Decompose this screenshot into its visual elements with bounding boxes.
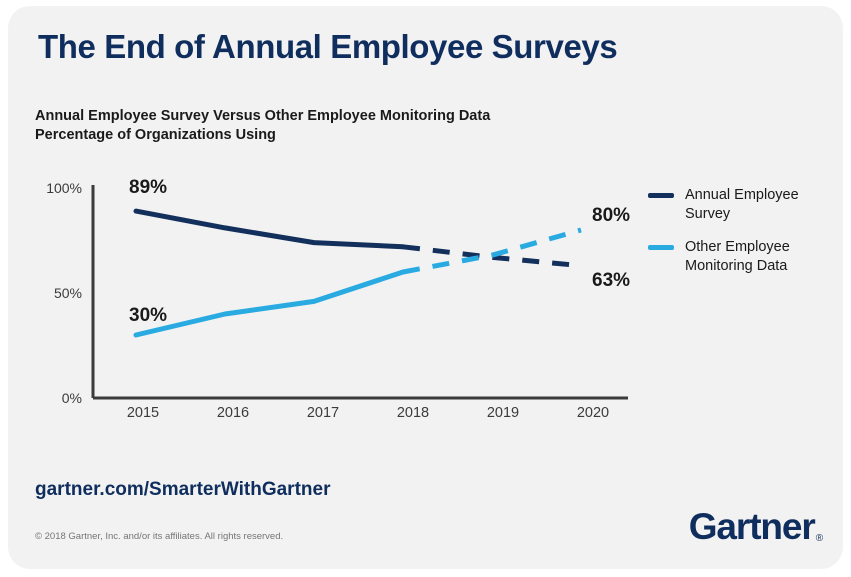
y-axis-tick-0: 0% (24, 390, 82, 406)
footer-url-link[interactable]: gartner.com/SmarterWithGartner (35, 479, 330, 501)
x-axis-tick-2020: 2020 (558, 405, 628, 421)
series-other-monitoring-forecast (403, 230, 581, 272)
registered-trademark-icon: ® (816, 533, 822, 544)
data-label-annual-survey-start: 89% (129, 177, 167, 199)
x-axis-tick-2017: 2017 (288, 405, 358, 421)
gartner-logo-text: Gartner (689, 506, 815, 547)
legend-item-annual-survey[interactable]: Annual Employee Survey (648, 186, 843, 224)
footer-copyright: © 2018 Gartner, Inc. and/or its affiliat… (35, 531, 283, 542)
x-axis-tick-2018: 2018 (378, 405, 448, 421)
legend-swatch-icon-other-monitoring (648, 245, 674, 250)
series-lines (136, 211, 581, 335)
series-other-monitoring-solid (136, 272, 403, 335)
infographic-card: The End of Annual Employee Surveys Annua… (8, 6, 843, 569)
data-label-other-monitoring-end: 80% (592, 205, 630, 227)
series-annual-survey-solid (136, 211, 403, 247)
x-axis-tick-2015: 2015 (108, 405, 178, 421)
x-axis-tick-2019: 2019 (468, 405, 538, 421)
legend-label-other-monitoring: Other Employee Monitoring Data (685, 238, 835, 276)
gartner-logo: Gartner® (689, 506, 821, 548)
legend-swatch-icon-annual-survey (648, 193, 674, 198)
legend-item-other-monitoring[interactable]: Other Employee Monitoring Data (648, 238, 843, 276)
x-axis-tick-2016: 2016 (198, 405, 268, 421)
chart-legend: Annual Employee Survey Other Employee Mo… (648, 186, 843, 290)
data-label-other-monitoring-start: 30% (129, 305, 167, 327)
data-label-annual-survey-end: 63% (592, 270, 630, 292)
y-axis-tick-50: 50% (24, 285, 82, 301)
y-axis-tick-100: 100% (24, 180, 82, 196)
legend-label-annual-survey: Annual Employee Survey (685, 186, 835, 224)
